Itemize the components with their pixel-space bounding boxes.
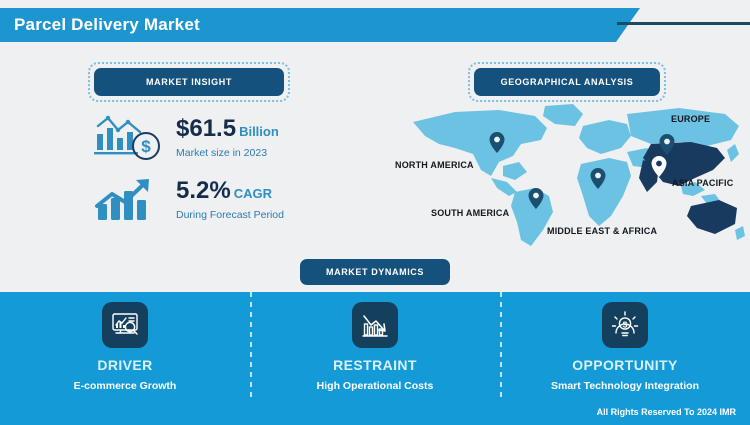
stat-market-size-text: $61.5Billion Market size in 2023 [176, 117, 279, 159]
geographical-analysis-badge: GEOGRAPHICAL ANALYSIS [468, 62, 666, 102]
dynamics-subtitle-restraint: High Operational Costs [250, 380, 500, 392]
dynamics-column-restraint: RESTRAINT High Operational Costs [250, 302, 500, 392]
stat-cagr-subtitle: During Forecast Period [176, 209, 284, 221]
dynamics-title-opportunity: OPPORTUNITY [500, 357, 750, 373]
growth-arrow-icon [92, 174, 168, 226]
dynamics-subtitle-opportunity: Smart Technology Integration [500, 380, 750, 392]
map-label-middle-east-africa: MIDDLE EAST & AFRICA [547, 226, 657, 236]
bar-chart-dollar-icon: $ [92, 112, 168, 164]
map-label-asia-pacific: ASIA PACIFIC [672, 178, 733, 188]
geographical-analysis-label: GEOGRAPHICAL ANALYSIS [474, 68, 660, 96]
lightbulb-dollar-icon: $ [602, 302, 648, 348]
stat-cagr: 5.2%CAGR During Forecast Period [92, 174, 284, 226]
dynamics-title-restraint: RESTRAINT [250, 357, 500, 373]
stat-cagr-text: 5.2%CAGR During Forecast Period [176, 179, 284, 221]
stat-market-size-unit: Billion [239, 124, 279, 139]
header: Parcel Delivery Market [0, 8, 750, 42]
market-insight-label: MARKET INSIGHT [94, 68, 284, 96]
map-label-north-america: NORTH AMERICA [395, 160, 474, 170]
map-label-europe: EUROPE [671, 114, 710, 124]
dynamics-title-driver: DRIVER [0, 357, 250, 373]
declining-chart-icon [352, 302, 398, 348]
world-map: NORTH AMERICA EUROPE ASIA PACIFIC SOUTH … [395, 100, 750, 255]
stat-market-size: $ $61.5Billion Market size in 2023 [92, 112, 279, 164]
header-rule [617, 22, 750, 25]
page-title: Parcel Delivery Market [14, 8, 200, 42]
chart-magnifier-icon [102, 302, 148, 348]
market-insight-badge: MARKET INSIGHT [88, 62, 290, 102]
stat-market-size-value: $61.5 [176, 115, 236, 142]
stat-market-size-subtitle: Market size in 2023 [176, 147, 279, 159]
footer-copyright: All Rights Reserved To 2024 IMR [597, 407, 736, 417]
dynamics-column-opportunity: $ OPPORTUNITY Smart Technology Integrati… [500, 302, 750, 392]
stat-cagr-value: 5.2% [176, 177, 231, 204]
stat-cagr-unit: CAGR [234, 186, 272, 201]
market-dynamics-band: DRIVER E-commerce Growth [0, 292, 750, 425]
svg-text:$: $ [623, 319, 628, 329]
dynamics-subtitle-driver: E-commerce Growth [0, 380, 250, 392]
stat-market-size-value-row: $61.5Billion [176, 117, 279, 141]
stat-cagr-value-row: 5.2%CAGR [176, 179, 284, 203]
infographic-page: Parcel Delivery Market MARKET INSIGHT GE… [0, 0, 750, 425]
market-dynamics-badge: MARKET DYNAMICS [300, 259, 450, 285]
dynamics-column-driver: DRIVER E-commerce Growth [0, 302, 250, 392]
map-label-south-america: SOUTH AMERICA [431, 208, 509, 218]
svg-text:$: $ [141, 137, 151, 156]
